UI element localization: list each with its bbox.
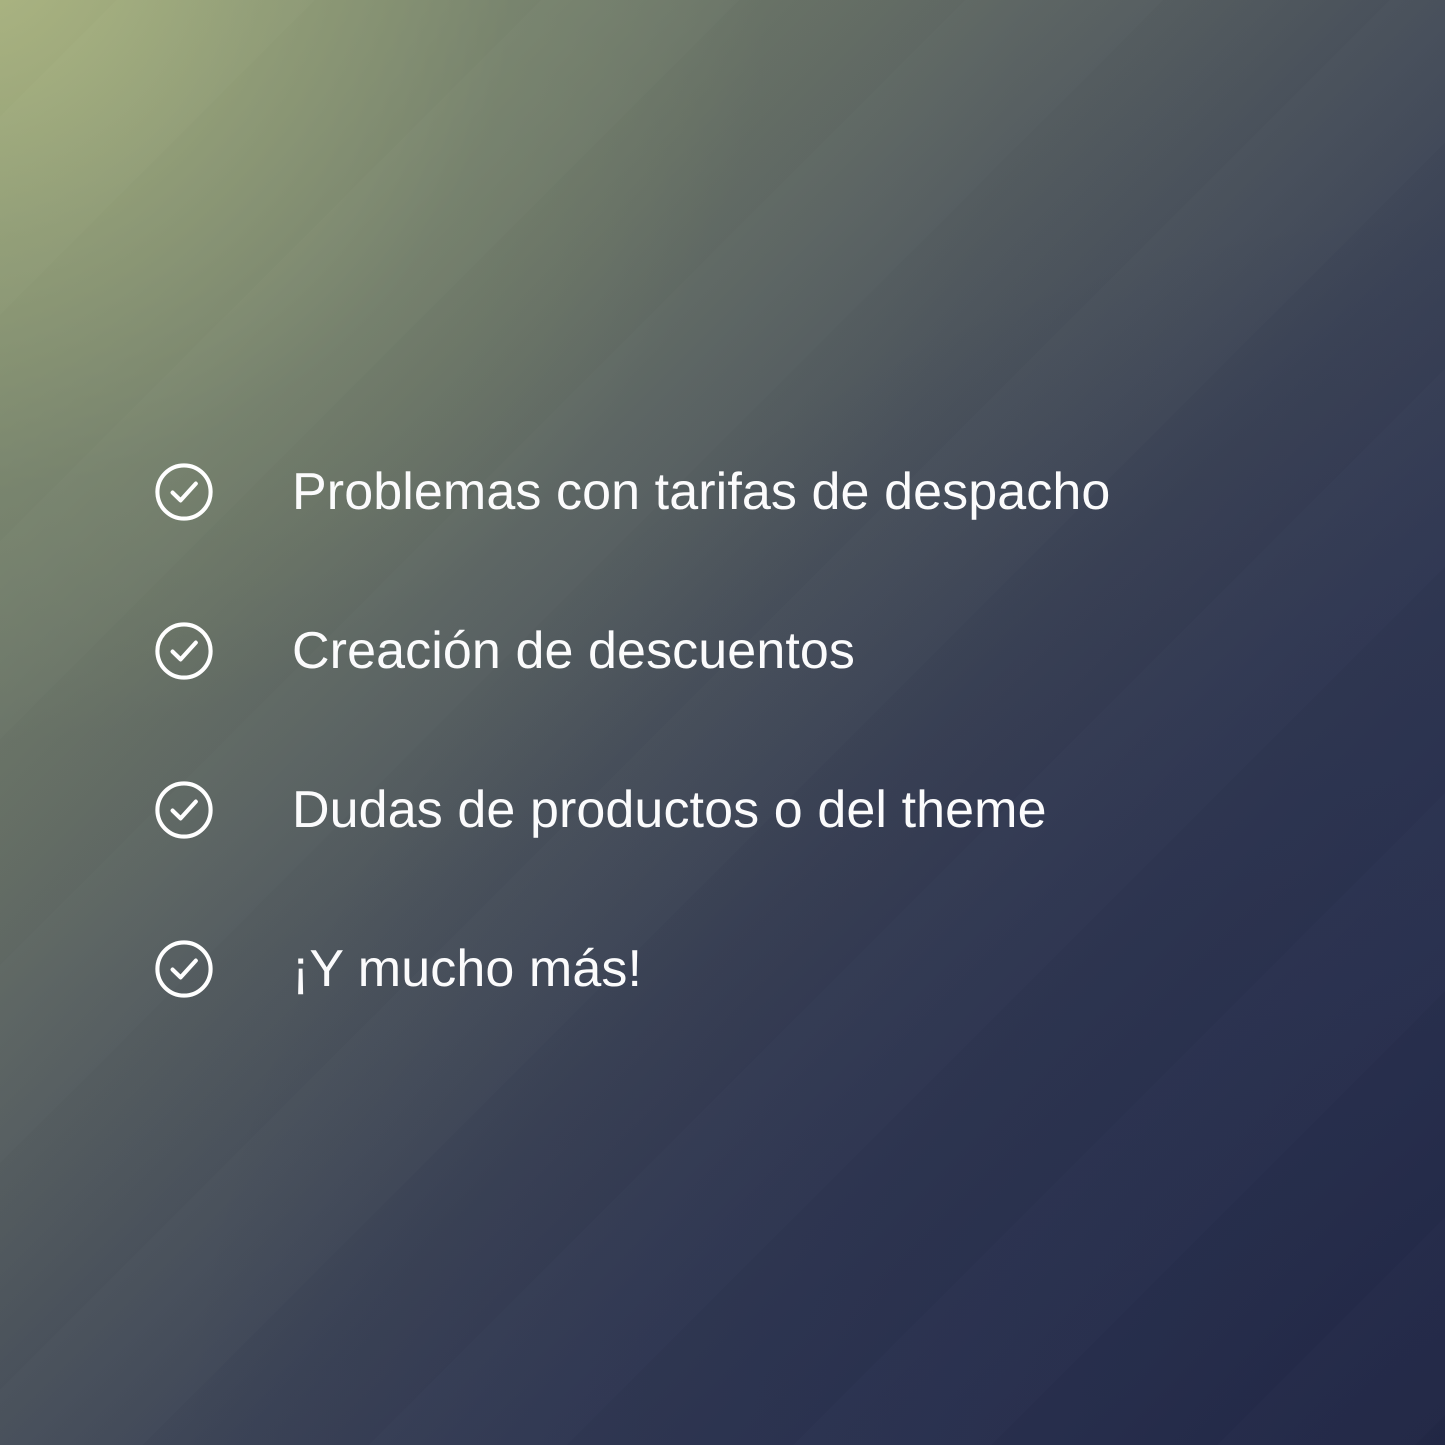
list-item: ¡Y mucho más! [155,939,1335,999]
checklist: Problemas con tarifas de despacho Creaci… [155,462,1335,999]
list-item-label: ¡Y mucho más! [292,943,1335,995]
list-item-label: Dudas de productos o del theme [292,784,1335,836]
check-circle-icon [155,622,213,680]
list-item: Problemas con tarifas de despacho [155,462,1335,522]
list-item-label: Problemas con tarifas de despacho [292,466,1335,518]
check-circle-icon [155,463,213,521]
check-circle-icon [155,940,213,998]
check-circle-icon [155,781,213,839]
promo-checklist-slide: Problemas con tarifas de despacho Creaci… [0,0,1445,1445]
list-item: Creación de descuentos [155,621,1335,681]
list-item-label: Creación de descuentos [292,625,1335,677]
list-item: Dudas de productos o del theme [155,780,1335,840]
